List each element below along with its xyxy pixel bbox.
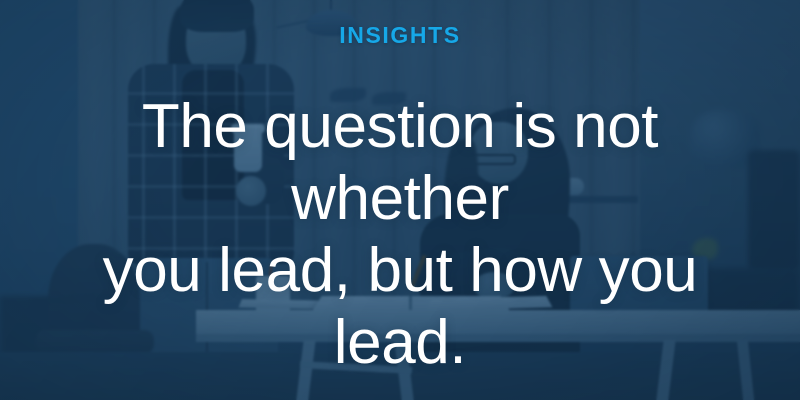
insights-quote-card: INSIGHTS The question is not whether you… <box>0 0 800 400</box>
card-content: INSIGHTS The question is not whether you… <box>0 0 800 400</box>
eyebrow-label: INSIGHTS <box>339 24 460 47</box>
headline-quote: The question is not whether you lead, bu… <box>50 91 750 379</box>
